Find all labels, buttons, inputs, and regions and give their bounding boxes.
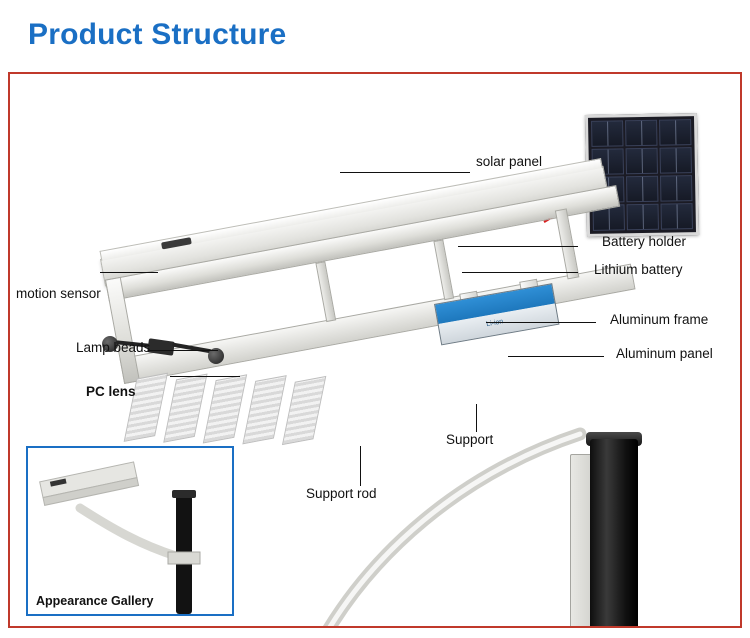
label-support-rod: Support rod <box>306 486 377 501</box>
frame-rib <box>555 208 580 279</box>
solar-cell <box>660 147 692 174</box>
leader-aluminum-panel <box>508 356 604 357</box>
label-aluminum-panel: Aluminum panel <box>616 346 713 361</box>
page-title: Product Structure <box>28 18 286 52</box>
solar-cell <box>626 148 658 175</box>
solar-cell <box>626 176 658 203</box>
leader-pc-lens <box>170 376 240 377</box>
sensor-cable-b <box>172 343 212 354</box>
label-battery-holder: Battery holder <box>602 234 686 249</box>
leader-battery-holder <box>458 246 578 247</box>
leader-aluminum-frame <box>486 322 596 323</box>
solar-cell <box>627 204 659 231</box>
lamp-bead-module <box>242 375 286 444</box>
solar-cell <box>660 175 692 202</box>
leader-lithium-battery <box>462 272 578 273</box>
leader-lamp-beads <box>148 350 218 351</box>
solar-cell <box>591 120 623 147</box>
sensor-module-box <box>147 338 175 355</box>
lamp-bead-module <box>163 373 207 442</box>
label-support: Support <box>446 432 493 447</box>
label-lithium-battery: Lithium battery <box>594 262 683 277</box>
solar-cell <box>659 119 691 146</box>
diagram-frame: Li-ion solar panel Battery holder Lithiu… <box>8 72 742 628</box>
label-pc-lens: PC lens <box>86 384 136 399</box>
lamp-bead-module <box>203 374 247 443</box>
frame-rib <box>433 239 454 300</box>
appearance-gallery-inset: Appearance Gallery <box>26 446 234 616</box>
leader-solar-panel <box>340 172 470 173</box>
label-lamp-beads: Lamp beads <box>76 340 150 355</box>
leader-motion-sensor <box>100 272 158 273</box>
mounting-pole <box>590 439 638 628</box>
leader-support-rod <box>360 446 361 486</box>
leader-support <box>476 404 477 432</box>
label-motion-sensor: motion sensor <box>16 286 101 301</box>
frame-rib <box>315 261 336 322</box>
appearance-gallery-caption: Appearance Gallery <box>36 594 153 608</box>
solar-cell <box>661 203 693 230</box>
solar-cell <box>625 120 657 147</box>
label-solar-panel: solar panel <box>476 154 542 169</box>
label-aluminum-frame: Aluminum frame <box>610 312 708 327</box>
appearance-gallery-image <box>28 448 232 614</box>
